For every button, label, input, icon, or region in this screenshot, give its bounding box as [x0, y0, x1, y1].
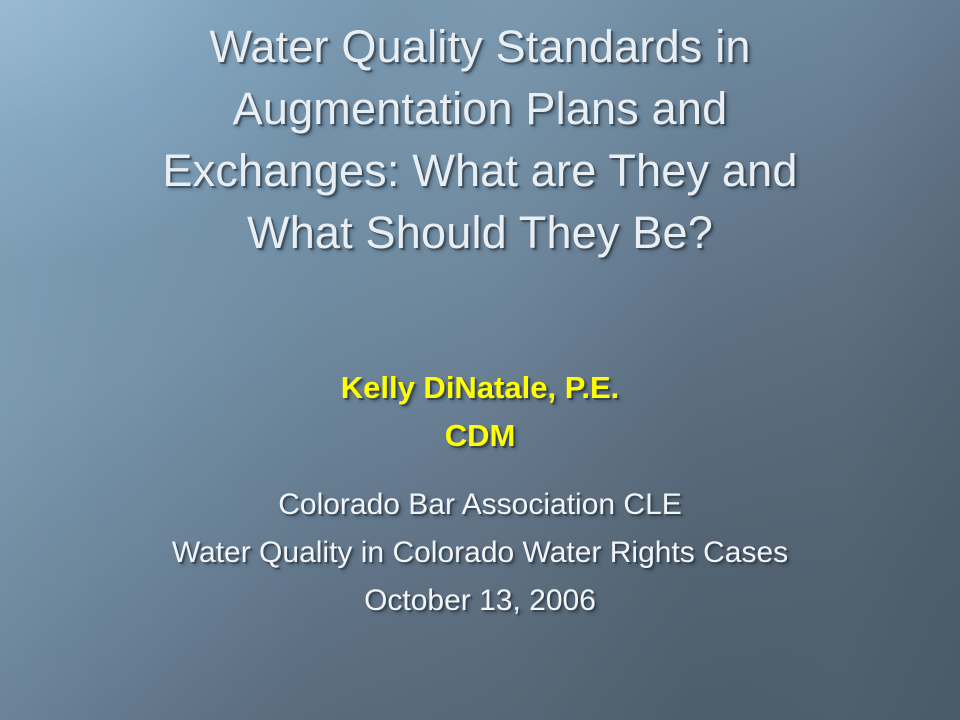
- presenter-byline: Kelly DiNatale, P.E. CDM: [52, 364, 908, 460]
- event-details: Colorado Bar Association CLE Water Quali…: [30, 481, 930, 625]
- title-line-4: What Should They Be?: [52, 202, 908, 264]
- title-slide: Water Quality Standards in Augmentation …: [0, 0, 960, 720]
- slide-content: Water Quality Standards in Augmentation …: [0, 0, 960, 720]
- event-topic: Water Quality in Colorado Water Rights C…: [30, 529, 930, 577]
- title-line-1: Water Quality Standards in: [52, 16, 908, 78]
- event-date: October 13, 2006: [30, 577, 930, 625]
- event-host: Colorado Bar Association CLE: [30, 481, 930, 529]
- title-line-2: Augmentation Plans and: [52, 78, 908, 140]
- presenter-organization: CDM: [52, 412, 908, 460]
- title-line-3: Exchanges: What are They and: [52, 140, 908, 202]
- slide-title: Water Quality Standards in Augmentation …: [52, 16, 908, 264]
- presenter-name: Kelly DiNatale, P.E.: [52, 364, 908, 412]
